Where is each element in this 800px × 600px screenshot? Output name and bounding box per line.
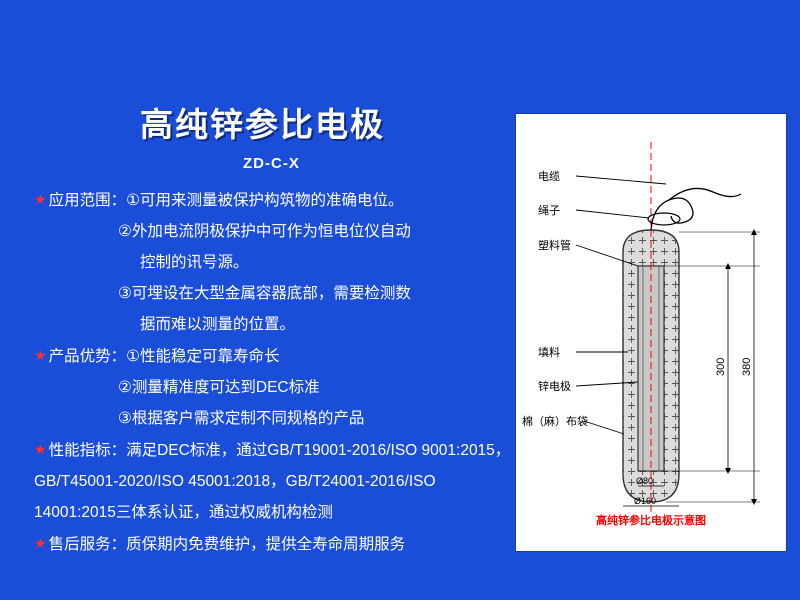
section-1-item-5: 据而难以测量的位置。	[140, 316, 295, 333]
section-1-item-4: ③可埋设在大型金属容器底部，需要检测数	[118, 285, 411, 302]
dim-outer-diameter: Ø160	[634, 496, 656, 506]
star-icon: ★	[34, 184, 47, 215]
label-plastic-tube: 塑料管	[538, 238, 571, 252]
section-1-label: 应用范围：	[49, 192, 127, 209]
dim-inner-height: 300	[715, 358, 727, 376]
label-cable: 电缆	[538, 170, 560, 183]
section-3-block: ★性能指标：满足DEC标准，通过GB/T19001-2016/ISO 9001:…	[34, 434, 514, 528]
diagram-caption: 高纯锌参比电极示意图	[516, 512, 786, 528]
section-1-item-4-line: ③可埋设在大型金属容器底部，需要检测数	[34, 278, 514, 309]
section-1-item-5-line: 据而难以测量的位置。	[34, 309, 514, 340]
label-cotton-bag: 棉（麻）布袋	[522, 414, 588, 428]
star-icon: ★	[34, 528, 47, 559]
label-rope: 绳子	[538, 203, 560, 217]
section-3-label: 性能指标：	[49, 442, 127, 459]
section-2-item-3-line: ③根据客户需求定制不同规格的产品	[34, 403, 514, 434]
section-1-item-3: 控制的讯号源。	[140, 254, 249, 271]
label-zinc-electrode: 锌电极	[538, 379, 571, 393]
section-1-item-2: ②外加电流阴极保护中可作为恒电位仪自动	[118, 223, 411, 240]
leader-cable	[576, 176, 666, 184]
section-2-label: 产品优势：	[49, 348, 127, 365]
diagram-panel: 电缆 绳子 塑料管 填料 锌电极 棉（麻）布袋 300 380 Ø80 Ø160…	[515, 113, 787, 552]
section-2-item-3: ③根据客户需求定制不同规格的产品	[118, 410, 364, 427]
star-icon: ★	[34, 434, 47, 465]
section-2-item-1: ①性能稳定可靠寿命长	[126, 348, 279, 365]
section-4-label: 售后服务：	[49, 536, 127, 553]
dim-inner-diameter: Ø80	[636, 476, 653, 486]
section-2-item-2-line: ②测量精准度可达到DEC标准	[34, 372, 514, 403]
section-4-item-1: 质保期内免费维护，提供全寿命周期服务	[126, 536, 405, 553]
section-2-first-line: ★产品优势：①性能稳定可靠寿命长	[34, 340, 514, 372]
star-icon: ★	[34, 340, 47, 371]
section-1-first-line: ★应用范围：①可用来测量被保护构筑物的准确电位。	[34, 184, 514, 216]
electrode-diagram: 电缆 绳子 塑料管 填料 锌电极 棉（麻）布袋 300 380 Ø80 Ø160	[516, 114, 786, 551]
leader-rope	[576, 210, 649, 218]
dim-outer-height: 380	[741, 358, 753, 376]
model-number: ZD-C-X	[243, 155, 300, 172]
section-1-item-1: ①可用来测量被保护构筑物的准确电位。	[126, 192, 403, 209]
section-2-item-2: ②测量精准度可达到DEC标准	[118, 379, 320, 396]
page-title: 高纯锌参比电极	[140, 98, 385, 146]
leader-bag	[584, 421, 624, 434]
content-body: ★应用范围：①可用来测量被保护构筑物的准确电位。 ②外加电流阴极保护中可作为恒电…	[34, 184, 514, 560]
section-4-block: ★售后服务：质保期内免费维护，提供全寿命周期服务	[34, 528, 514, 560]
section-1-item-2-line: ②外加电流阴极保护中可作为恒电位仪自动	[34, 216, 514, 247]
section-1-item-3-line: 控制的讯号源。	[34, 247, 514, 278]
label-backfill: 填料	[538, 345, 560, 359]
